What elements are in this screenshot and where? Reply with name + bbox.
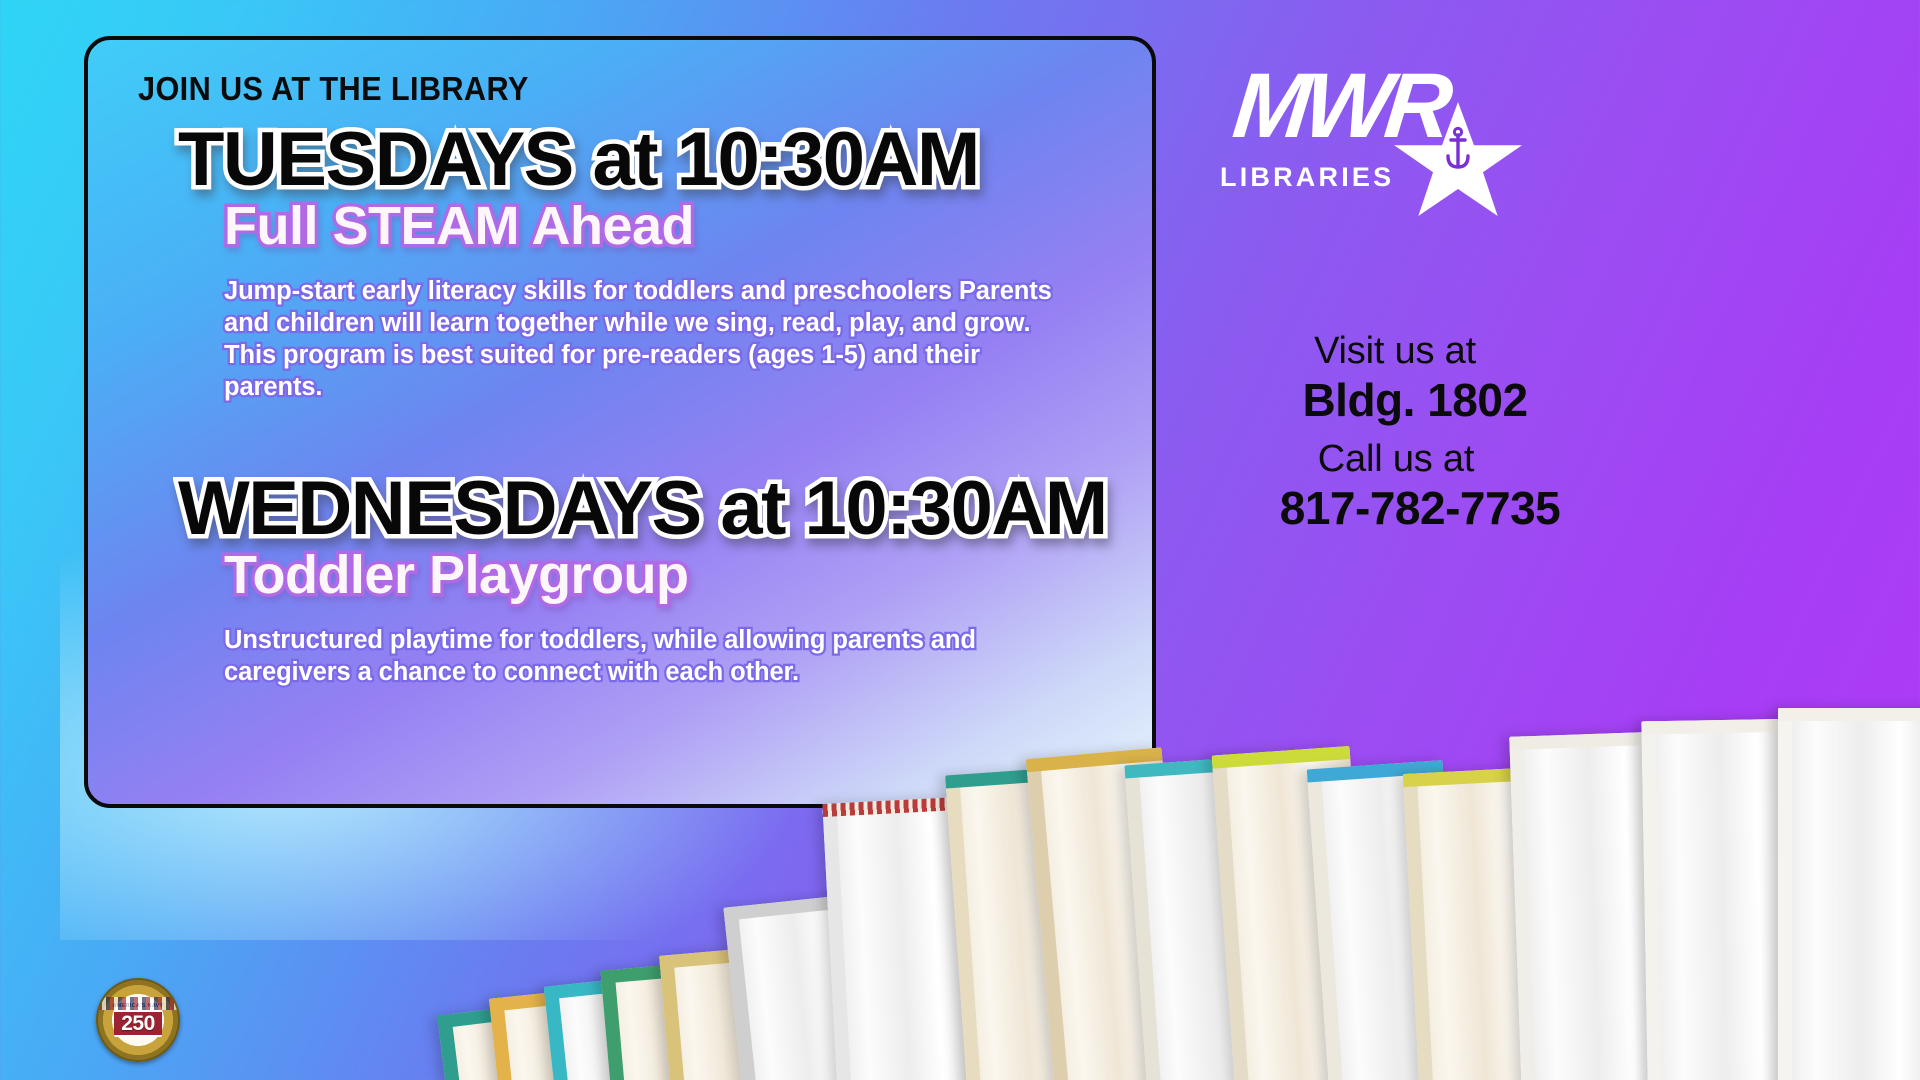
mwr-libraries-logo: MWR LIBRARIES — [1220, 60, 1530, 225]
visit-label: Visit us at — [1160, 330, 1630, 373]
call-label: Call us at — [1160, 438, 1632, 481]
event-block-tuesday: TUESDAYS at 10:30AM Full STEAM Ahead Jum… — [136, 122, 1152, 403]
event-description: Jump-start early literacy skills for tod… — [224, 275, 1054, 404]
phone-number: 817-782-7735 — [1160, 483, 1680, 535]
right-column: MWR LIBRARIES Visit us at Bldg. 1802 Cal… — [1160, 0, 1920, 1080]
mwr-subtitle-text: LIBRARIES — [1220, 162, 1394, 193]
book-spine — [489, 986, 620, 1080]
seal-number: 250 — [114, 1010, 162, 1037]
book-spine — [437, 1002, 563, 1080]
book-spine — [544, 974, 674, 1080]
building-number: Bldg. 1802 — [1160, 375, 1670, 427]
event-day-time: TUESDAYS at 10:30AM — [178, 122, 1152, 198]
event-day-time: WEDNESDAYS at 10:30AM — [178, 471, 1152, 547]
book-spine — [600, 960, 733, 1080]
navy-250-seal-icon: AMERICA'S NAVY 250 — [96, 978, 180, 1062]
event-program-title: Toddler Playgroup — [224, 547, 1152, 604]
book-spine — [822, 797, 978, 1080]
card-eyebrow-heading: JOIN US AT THE LIBRARY — [138, 70, 1081, 108]
anchor-icon — [1445, 126, 1471, 172]
star-icon — [1394, 102, 1522, 222]
book-spine — [659, 945, 796, 1080]
event-block-wednesday: WEDNESDAYS at 10:30AM Toddler Playgroup … — [136, 471, 1152, 688]
event-card: JOIN US AT THE LIBRARY TUESDAYS at 10:30… — [84, 36, 1156, 808]
seal-stripes — [98, 997, 178, 1010]
book-spine — [723, 894, 873, 1080]
event-description: Unstructured playtime for toddlers, whil… — [224, 624, 1054, 688]
contact-info: Visit us at Bldg. 1802 Call us at 817-78… — [1160, 330, 1860, 534]
event-program-title: Full STEAM Ahead — [224, 198, 1152, 255]
book-spine — [945, 766, 1102, 1080]
